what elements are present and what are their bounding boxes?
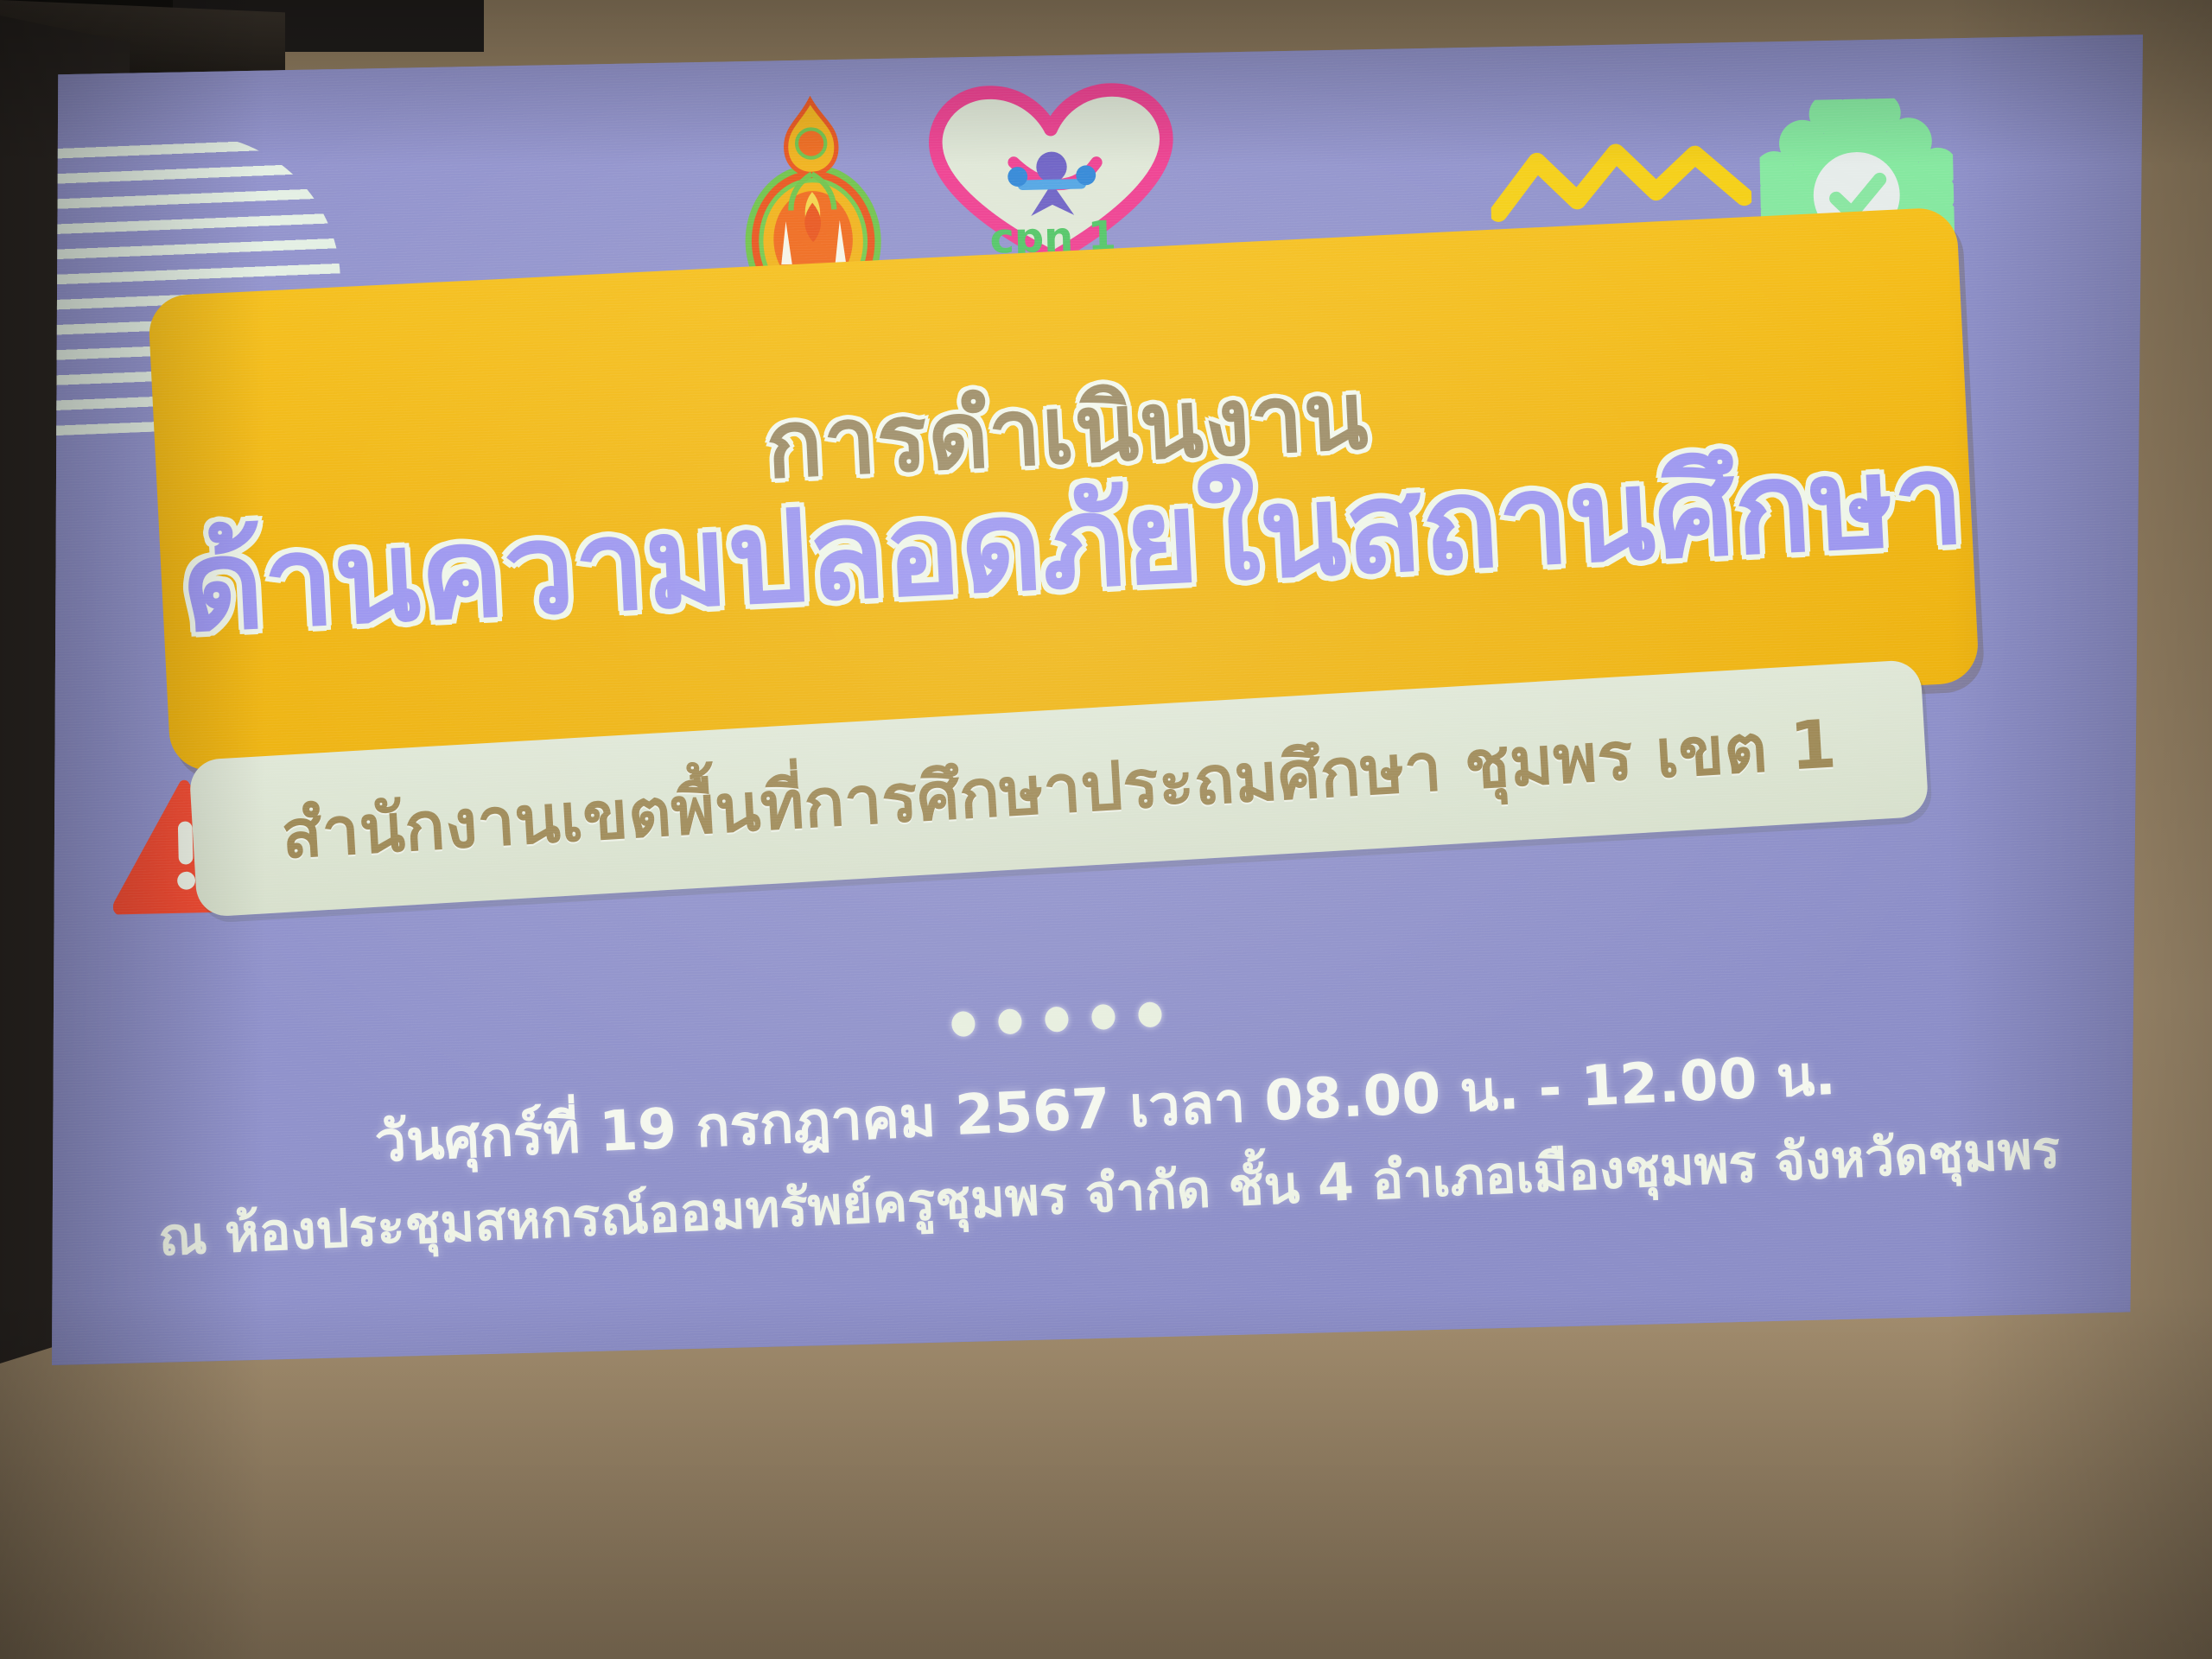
- zigzag-squiggle-icon: [1490, 137, 1752, 224]
- dot: [1045, 1006, 1069, 1032]
- dot: [998, 1008, 1022, 1034]
- presentation-slide: cpn 1: [52, 35, 2143, 1365]
- projection-screen: cpn 1: [52, 35, 2143, 1365]
- cpn1-heart-logo-icon: cpn 1: [915, 71, 1189, 275]
- footer-block: วันศุกร์ที่ 19 กรกฎาคม 2567 เวลา 08.00 น…: [52, 1018, 2143, 1282]
- dot: [1091, 1004, 1116, 1030]
- room-background: cpn 1: [0, 0, 2212, 1659]
- dot-separator: [951, 1001, 1186, 1038]
- dot: [951, 1011, 976, 1037]
- dot: [1138, 1001, 1162, 1027]
